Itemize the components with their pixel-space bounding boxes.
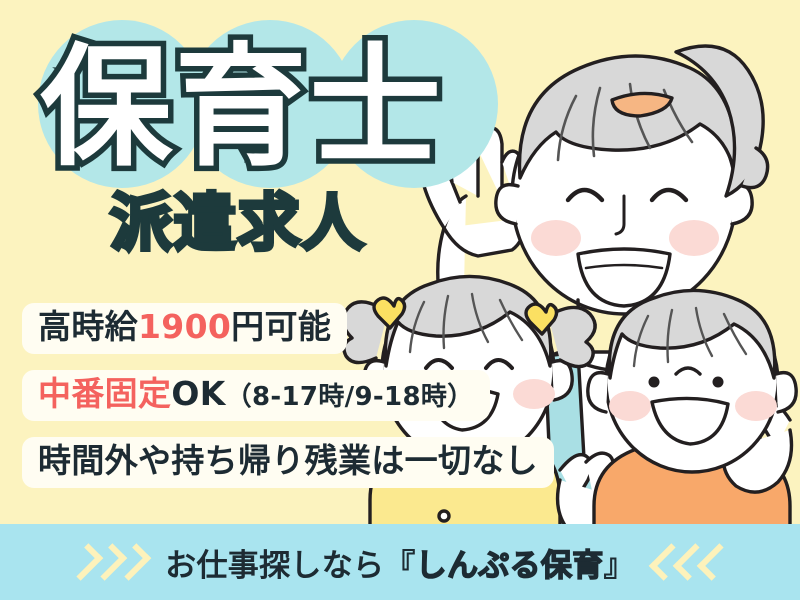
cta-open-bracket: 『	[384, 548, 415, 584]
chevrons-right-group	[657, 546, 726, 578]
chevron-left-icon	[697, 543, 734, 580]
badge-wage-amount: 1900	[138, 307, 231, 346]
badge-shift-hours: （8-17時/9-18時）	[226, 382, 474, 412]
badge-wage-seg-2: 円可能	[231, 307, 331, 346]
job-ad-banner: 保育士 派遣求人 高時給1900円可能 中番固定OK（8-17時/9-18時） …	[0, 0, 800, 600]
badge-no-overtime-text: 時間外や持ち帰り残業は一切なし	[38, 441, 538, 480]
badge-shift-highlight: 中番固定	[38, 374, 171, 413]
page-title: 保育士	[40, 28, 510, 188]
chevrons-left-group	[74, 546, 143, 578]
badge-shift: 中番固定OK（8-17時/9-18時）	[22, 370, 490, 421]
badge-wage-seg-0: 高時給	[38, 307, 138, 346]
badge-wage: 高時給1900円可能	[22, 303, 347, 354]
cta-brand-name: しんぷる保育	[416, 548, 604, 584]
badge-shift-ok: OK	[171, 374, 225, 413]
chevron-right-icon	[114, 543, 151, 580]
cta-text: お仕事探しなら『しんぷる保育』	[165, 540, 635, 585]
cta-lead-text: お仕事探しなら	[165, 548, 384, 584]
bottom-cta-bar: お仕事探しなら『しんぷる保育』	[0, 524, 800, 600]
feature-badge-list: 高時給1900円可能 中番固定OK（8-17時/9-18時） 時間外や持ち帰り残…	[22, 303, 554, 488]
cta-close-bracket: 』	[604, 548, 635, 584]
page-subtitle: 派遣求人	[110, 192, 365, 254]
badge-no-overtime: 時間外や持ち帰り残業は一切なし	[22, 437, 554, 488]
